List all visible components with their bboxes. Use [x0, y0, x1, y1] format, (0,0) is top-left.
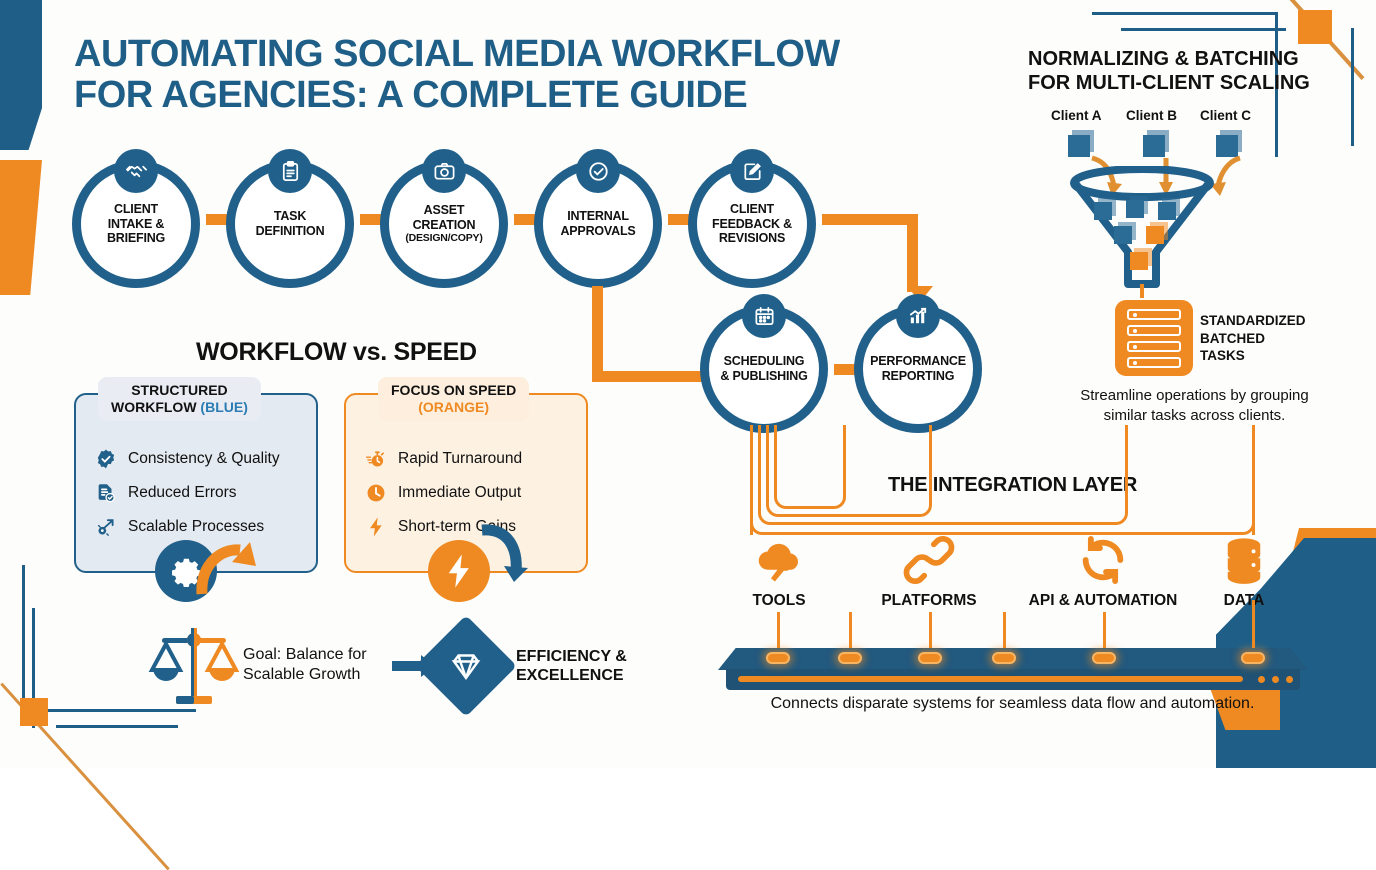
edit-square-icon	[730, 149, 774, 193]
streamline-caption: Streamline operations by grouping simila…	[1022, 386, 1367, 425]
board-port-5	[1092, 652, 1116, 664]
list-item: Rapid Turnaround	[364, 447, 522, 470]
workflow-node-asset-creation[interactable]: ASSET CREATION (DESIGN/COPY)	[380, 160, 508, 288]
board-port-4	[992, 652, 1016, 664]
decor-bl-square	[20, 698, 48, 726]
structured-workflow-header: STRUCTURED WORKFLOW (BLUE)	[98, 377, 261, 421]
decor-left-blue-wedge	[0, 0, 42, 150]
result-line-1: EFFICIENCY &	[516, 647, 627, 666]
efficiency-excellence-label: EFFICIENCY & EXCELLENCE	[516, 647, 627, 685]
balance-scale-icon	[148, 620, 240, 710]
normalizing-title: NORMALIZING & BATCHING FOR MULTI-CLIENT …	[1028, 48, 1358, 95]
list-item: Consistency & Quality	[94, 447, 280, 470]
standardized-batched-tasks-label: STANDARDIZED BATCHED TASKS	[1200, 312, 1306, 365]
result-line-2: EXCELLENCE	[516, 666, 627, 685]
lightning-bolt-icon	[364, 515, 387, 538]
node-label: PERFORMANCE REPORTING	[866, 354, 970, 383]
comparison-title: WORKFLOW vs. SPEED	[196, 338, 477, 367]
link-chain-icon	[866, 530, 992, 586]
streamline-line-2: similar tasks across clients.	[1022, 406, 1367, 426]
workflow-node-performance-reporting[interactable]: PERFORMANCE REPORTING	[854, 305, 982, 433]
database-icon	[1198, 530, 1290, 586]
board-dot-3	[1286, 676, 1293, 683]
clock-icon	[364, 481, 387, 504]
stopwatch-icon	[364, 447, 387, 470]
board-port-6	[1241, 652, 1265, 664]
cloud-wrench-icon	[718, 530, 840, 586]
decor-tr-line-h2	[1121, 28, 1286, 31]
board-port-3	[918, 652, 942, 664]
decor-tr-line-h1	[1092, 12, 1278, 15]
header-accent: (BLUE)	[200, 399, 247, 415]
integration-caption: Connects disparate systems for seamless …	[700, 695, 1325, 713]
node-label: SCHEDULING & PUBLISHING	[716, 354, 811, 383]
client-label-a: Client A	[1051, 108, 1102, 123]
list-item: Scalable Processes	[94, 515, 280, 538]
integration-node-platforms[interactable]: PLATFORMS	[866, 530, 992, 610]
list-item-label: Immediate Output	[398, 484, 521, 502]
integration-node-label: TOOLS	[718, 592, 840, 610]
clipboard-icon	[268, 149, 312, 193]
goal-line-1: Goal: Balance for	[243, 645, 367, 665]
integration-node-label: DATA	[1198, 592, 1290, 610]
title-line-2: FOR AGENCIES: A COMPLETE GUIDE	[74, 75, 874, 116]
std-line-3: TASKS	[1200, 347, 1306, 365]
verified-badge-icon	[94, 447, 117, 470]
std-line-2: BATCHED	[1200, 330, 1306, 348]
funnel-icon	[1062, 166, 1222, 301]
integration-node-api-automation[interactable]: API & AUTOMATION	[1018, 530, 1188, 610]
streamline-line-1: Streamline operations by grouping	[1022, 386, 1367, 406]
workflow-node-internal-approvals[interactable]: INTERNAL APPROVALS	[534, 160, 662, 288]
header-line-1: FOCUS ON SPEED	[391, 382, 516, 398]
integration-node-tools[interactable]: TOOLS	[718, 530, 840, 610]
sync-arrows-icon	[1018, 530, 1188, 586]
list-item-label: Scalable Processes	[128, 518, 264, 536]
client-label-b: Client B	[1126, 108, 1177, 123]
workflow-node-client-feedback[interactable]: CLIENT FEEDBACK & REVISIONS	[688, 160, 816, 288]
board-port-2	[838, 652, 862, 664]
integration-node-data[interactable]: DATA	[1198, 530, 1290, 610]
infographic-canvas: AUTOMATING SOCIAL MEDIA WORKFLOW FOR AGE…	[0, 0, 1376, 768]
integration-node-label: API & AUTOMATION	[1018, 592, 1188, 610]
decor-left-orange-wedge	[0, 160, 42, 295]
node-label: CLIENT INTAKE & BRIEFING	[103, 202, 169, 246]
node-label: CLIENT FEEDBACK & REVISIONS	[708, 202, 796, 246]
handshake-icon	[114, 149, 158, 193]
integration-node-label: PLATFORMS	[866, 592, 992, 610]
decor-bl-line-v1	[22, 565, 25, 712]
board-port-1	[766, 652, 790, 664]
list-item: Immediate Output	[364, 481, 522, 504]
board-dot-1	[1258, 676, 1265, 683]
page-title: AUTOMATING SOCIAL MEDIA WORKFLOW FOR AGE…	[74, 34, 874, 116]
client-label-c: Client C	[1200, 108, 1251, 123]
header-accent: (ORANGE)	[418, 399, 489, 415]
title-line-1: AUTOMATING SOCIAL MEDIA WORKFLOW	[74, 34, 874, 75]
header-line-1: STRUCTURED	[131, 382, 227, 398]
header-line-2: WORKFLOW	[111, 399, 200, 415]
check-circle-icon	[576, 149, 620, 193]
board-strip	[738, 676, 1243, 682]
node-label: TASK DEFINITION	[252, 209, 329, 238]
list-item: Reduced Errors	[94, 481, 280, 504]
decor-tr-square	[1298, 10, 1332, 44]
gear-up-curve-arrow	[196, 538, 266, 596]
gear-arrow-icon	[94, 515, 117, 538]
workflow-node-task-definition[interactable]: TASK DEFINITION	[226, 160, 354, 288]
std-line-1: STANDARDIZED	[1200, 312, 1306, 330]
normalizing-title-line-2: FOR MULTI-CLIENT SCALING	[1028, 72, 1358, 96]
list-item-label: Rapid Turnaround	[398, 450, 522, 468]
list-item-label: Reduced Errors	[128, 484, 237, 502]
decor-bl-line-h2	[56, 725, 178, 728]
workflow-node-scheduling[interactable]: SCHEDULING & PUBLISHING	[700, 305, 828, 433]
bolt-down-curve-arrow	[474, 524, 544, 582]
camera-icon	[422, 149, 466, 193]
goal-text: Goal: Balance for Scalable Growth	[243, 645, 367, 685]
bar-chart-icon	[896, 294, 940, 338]
node-label: INTERNAL APPROVALS	[556, 209, 639, 238]
normalizing-title-line-1: NORMALIZING & BATCHING	[1028, 48, 1358, 72]
integration-pipe-4	[774, 425, 846, 509]
lightning-bolt-icon	[440, 552, 478, 590]
standardized-tasks-server-icon	[1115, 300, 1193, 376]
diamond-icon	[448, 648, 484, 684]
node-label: ASSET CREATION (DESIGN/COPY)	[401, 203, 486, 245]
list-item-label: Consistency & Quality	[128, 450, 280, 468]
board-dot-2	[1272, 676, 1279, 683]
goal-line-2: Scalable Growth	[243, 665, 367, 685]
calendar-icon	[742, 294, 786, 338]
structured-workflow-list: Consistency & Quality Reduced Errors	[94, 447, 280, 549]
document-check-icon	[94, 481, 117, 504]
focus-on-speed-header: FOCUS ON SPEED (ORANGE)	[378, 377, 529, 421]
workflow-node-client-intake[interactable]: CLIENT INTAKE & BRIEFING	[72, 160, 200, 288]
